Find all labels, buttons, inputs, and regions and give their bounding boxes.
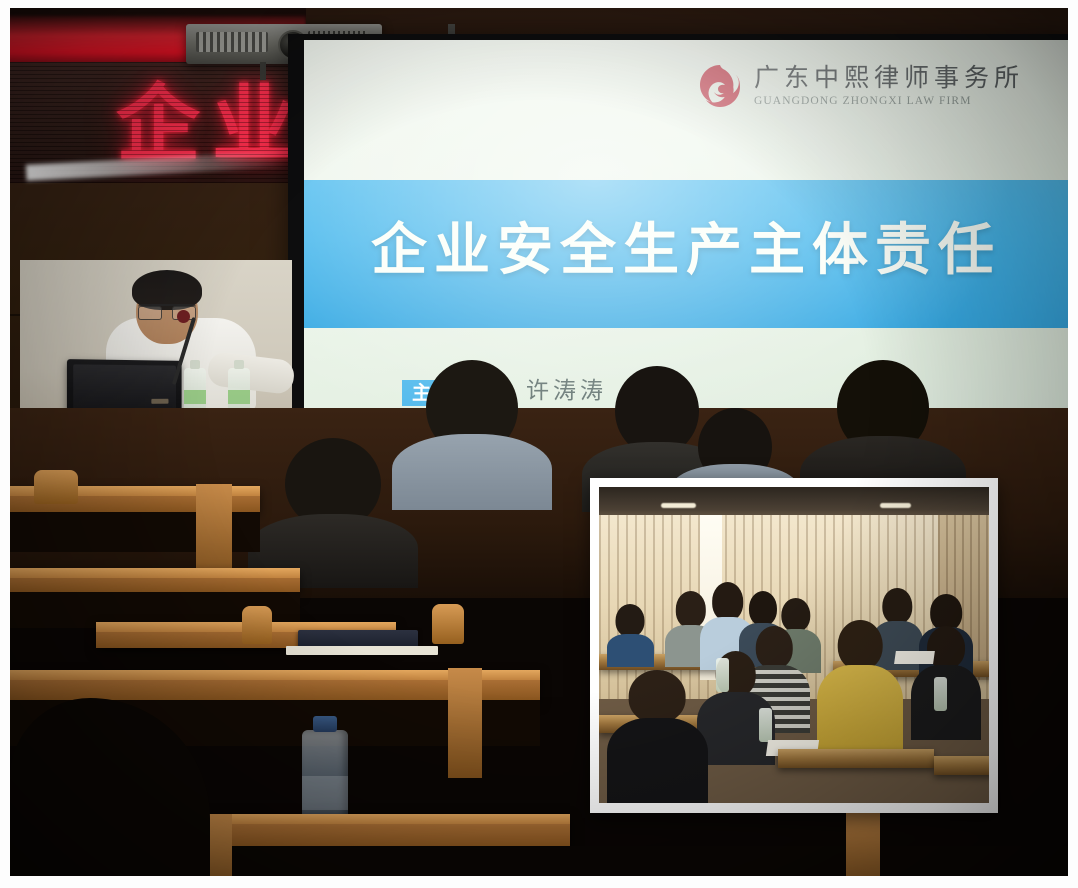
inset-water-bottle: [759, 708, 772, 742]
bench-arm: [34, 470, 78, 504]
bottle-label: [228, 390, 250, 404]
audience-inset-photo: [590, 478, 998, 813]
audience-member: [248, 438, 418, 588]
bench-row: [10, 568, 300, 592]
bench-post: [448, 668, 482, 778]
law-firm-logo: 广东中熙律师事务所 GUANGDONG ZHONGXI LAW FIRM: [696, 62, 1024, 110]
photo-canvas: 企业: [10, 8, 1068, 876]
logo-text: 广东中熙律师事务所 GUANGDONG ZHONGXI LAW FIRM: [754, 62, 1024, 109]
bottle-label: [302, 776, 348, 810]
loose-paper: [286, 646, 438, 655]
screenshot-root: 企业: [0, 0, 1078, 888]
inset-water-bottle: [716, 658, 729, 692]
inset-person-head: [838, 620, 883, 670]
inset-water-bottle: [934, 677, 947, 711]
inset-person-body: [607, 634, 654, 667]
projector-arm: [260, 62, 266, 80]
slide-title: 企业安全生产主体责任: [304, 220, 1068, 282]
inset-person-head: [629, 670, 686, 723]
inset-person-body: [607, 718, 708, 803]
inset-person-body: [817, 665, 903, 753]
inset-person-head: [616, 604, 645, 637]
podium-water-bottle-2: [228, 368, 250, 412]
inset-photo-canvas: [599, 487, 989, 803]
logo-chinese-name: 广东中熙律师事务所: [754, 64, 1024, 92]
projector-vent-left: [196, 32, 268, 52]
bench-post: [846, 808, 880, 876]
inset-ceiling-light: [880, 503, 911, 508]
inset-desk-row: [934, 756, 989, 775]
podium-water-bottle-1: [184, 368, 206, 412]
inset-person: [817, 620, 903, 753]
inset-person: [607, 604, 654, 667]
inset-desk-row: [778, 749, 934, 768]
bench-arm: [432, 604, 464, 644]
laptop-badge: [151, 399, 168, 404]
inset-ceiling: [599, 487, 989, 519]
bottle-label: [184, 390, 206, 404]
microphone-head-icon: [177, 310, 190, 323]
inset-ceiling-light: [661, 503, 696, 508]
bench-arm: [242, 606, 272, 644]
bottle-cap: [313, 716, 337, 732]
inset-paper: [895, 651, 936, 664]
swirl-emblem-icon: [696, 62, 744, 110]
audience-member: [392, 360, 552, 510]
inset-person: [607, 670, 708, 803]
photo-outer-frame: 企业: [0, 0, 1078, 888]
bench-top-surface: [10, 568, 300, 578]
logo-english-name: GUANGDONG ZHONGXI LAW FIRM: [754, 93, 1024, 109]
